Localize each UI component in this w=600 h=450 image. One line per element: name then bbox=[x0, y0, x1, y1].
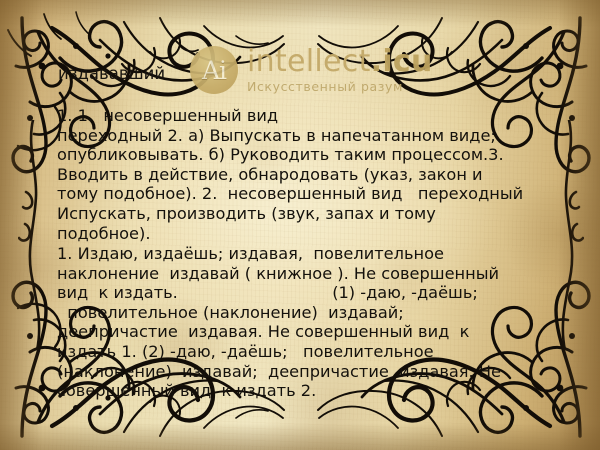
parchment-page: Ai intellect.icu Искусственный разум изд… bbox=[0, 0, 600, 450]
parchment-vignette bbox=[0, 0, 600, 450]
